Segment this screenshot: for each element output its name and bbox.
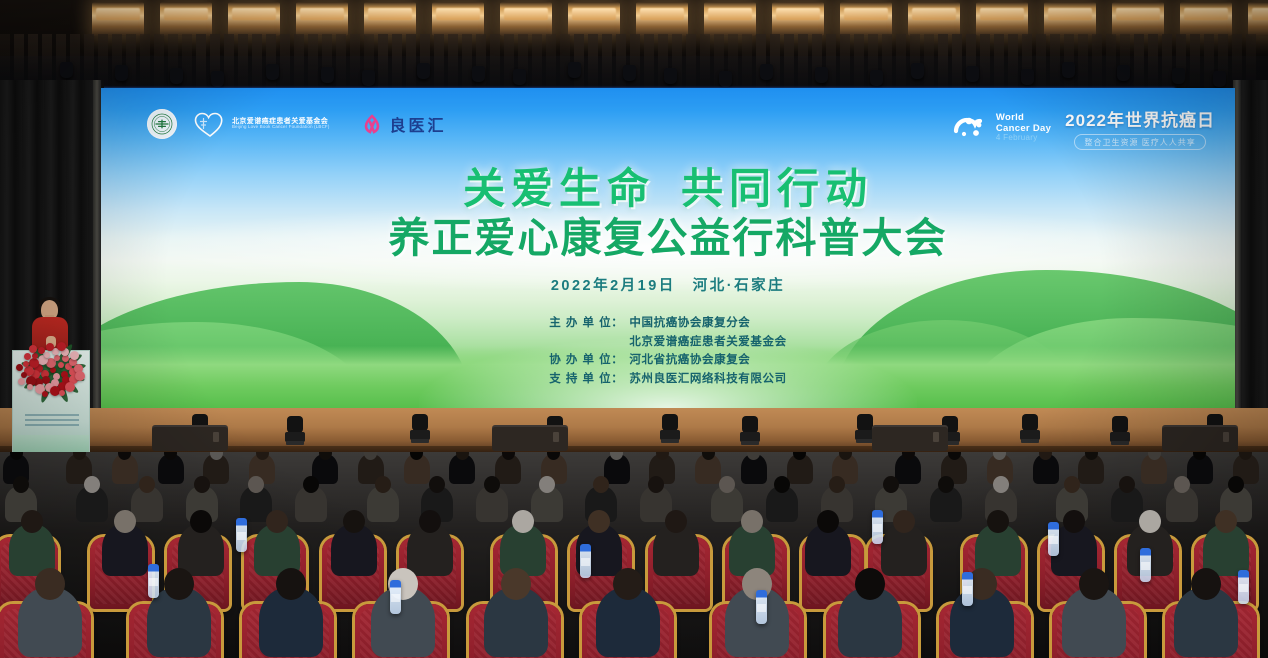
flower-bloom (58, 362, 64, 368)
audience-member-head (1119, 476, 1135, 493)
water-bottle (236, 518, 247, 552)
audience-member-head (501, 568, 531, 600)
lbcf-name-en: Beijing Love Book Cancer Foundation (LBC… (232, 125, 329, 130)
headline-line-2: 养正爱心康复公益行科普大会 (101, 214, 1235, 262)
organizer-value: 苏州良医汇网络科技有限公司 (629, 370, 786, 386)
pink-ribbon-icon (361, 112, 383, 136)
organizer-colon: ： (611, 370, 623, 386)
moving-head-stage-light (740, 416, 760, 446)
audience-member-head (938, 476, 954, 493)
ceiling-light-fixture (92, 2, 144, 36)
headline-part-b: 共同行动 (681, 165, 873, 212)
hanging-spotlight (815, 67, 828, 83)
hanging-spotlight (1172, 68, 1185, 84)
ceiling-light-fixture (840, 2, 892, 36)
hanging-spotlight (60, 62, 73, 78)
stage-monitor-speaker (1162, 425, 1238, 451)
organizer-value: 中国抗癌协会康复分会 (629, 314, 750, 330)
ceiling-light-fixture (432, 2, 484, 36)
audience-member-head (343, 510, 365, 533)
organizer-row: 支持单位：苏州良医汇网络科技有限公司 (549, 370, 786, 386)
audience-member-head (648, 476, 664, 493)
water-bottle (580, 544, 591, 578)
ceiling-light-fixture (364, 2, 416, 36)
audience-member-head (35, 568, 65, 600)
headline-part-a: 关爱生命 (463, 165, 655, 212)
ceiling-light-fixture (1248, 2, 1268, 36)
ceiling-light-fixture (160, 2, 212, 36)
hanging-spotlight (266, 64, 279, 80)
hanging-spotlight (321, 67, 334, 83)
lectern-banner-org-lines (25, 414, 79, 429)
flower-bloom (16, 364, 23, 371)
hanging-spotlight (719, 71, 732, 87)
hanging-spotlight (623, 65, 636, 81)
stage-monitor-speaker (872, 425, 948, 451)
audience-member-head (194, 476, 210, 493)
moving-head-stage-light (285, 416, 305, 446)
organizer-label: 支持单位 (549, 370, 611, 386)
organizer-label: 主办单位 (549, 314, 611, 330)
flower-bloom (27, 384, 33, 390)
flower-bloom (57, 342, 66, 351)
audience-member-head (1174, 476, 1190, 493)
liangyihui-logo: 良医汇 (361, 112, 446, 136)
heart-icon (193, 111, 227, 138)
hanging-spotlight (472, 66, 485, 82)
audience-member-head (13, 476, 29, 493)
moving-head-stage-light (660, 414, 680, 444)
hanging-spotlight (664, 68, 677, 84)
event-title-block: 关爱生命共同行动 养正爱心康复公益行科普大会 2022年2月19日 河北·石家庄 (101, 166, 1235, 295)
water-bottle (1238, 570, 1249, 604)
conference-hall-scene: 北京爱谱癌症患者关爱基金会 Beijing Love Book Cancer F… (0, 0, 1268, 658)
hanging-spotlight (513, 69, 526, 85)
organizer-row: 主办单位：中国抗癌协会康复分会 (549, 314, 786, 330)
hanging-spotlight (417, 63, 430, 79)
stage-monitor-speaker (152, 425, 228, 451)
ceiling-light-fixture (636, 2, 688, 36)
water-bottle (390, 580, 401, 614)
flower-bloom (46, 343, 54, 351)
organizer-row: 协办单位：河北省抗癌协会康复会 (549, 351, 786, 367)
audience-member-head (276, 568, 306, 600)
audience-member-head (855, 568, 885, 600)
flower-bloom (42, 391, 48, 397)
ceiling-light-fixture (908, 2, 960, 36)
ceiling-light-fixture (1044, 2, 1096, 36)
ceiling-light-fixture (1112, 2, 1164, 36)
audience-member-head (1063, 510, 1085, 533)
ceiling-light-fixture (704, 2, 756, 36)
audience-member-head (993, 476, 1009, 493)
beijing-lbcf-foundation-logo: 北京爱谱癌症患者关爱基金会 Beijing Love Book Cancer F… (193, 111, 329, 138)
audience-member-head (1079, 568, 1109, 600)
ceiling-light-fixture (568, 2, 620, 36)
sponsor-logos-left: 北京爱谱癌症患者关爱基金会 Beijing Love Book Cancer F… (147, 109, 447, 139)
audience-member-head (987, 510, 1009, 533)
wcd-line-3: 4 February (996, 134, 1051, 143)
flower-bloom (70, 351, 79, 360)
ceiling-lighting-rig (0, 0, 1268, 96)
stage-monitor-speaker (492, 425, 568, 451)
hanging-spotlight (760, 64, 773, 80)
organizer-row: 主办单位：北京爱谱癌症患者关爱基金会 (549, 333, 786, 349)
hanging-spotlight (211, 71, 224, 87)
audience-member-head (613, 568, 643, 600)
audience-member-head (539, 476, 555, 493)
water-bottle (1140, 548, 1151, 582)
wcd-chinese-block: 2022年世界抗癌日 整合卫生资源 医疗人人共享 (1065, 106, 1215, 150)
hanging-spotlight (870, 70, 883, 86)
ceiling-light-fixture (500, 2, 552, 36)
water-bottle (1048, 522, 1059, 556)
hanging-spotlight (115, 65, 128, 81)
flower-bloom (44, 352, 50, 358)
organizer-value: 河北省抗癌协会康复会 (629, 351, 750, 367)
ceiling-light-fixture (296, 2, 348, 36)
audience-member-head (303, 476, 319, 493)
hanging-spotlight (362, 70, 375, 86)
audience-member-head (665, 510, 687, 533)
event-date-location: 2022年2月19日 河北·石家庄 (101, 274, 1235, 295)
flower-bloom (18, 378, 25, 385)
flower-bloom (50, 386, 60, 396)
audience-member-head (741, 510, 763, 533)
hanging-spotlight (1062, 62, 1075, 78)
liangyihui-name: 良医汇 (389, 112, 446, 136)
audience-member-head (139, 476, 155, 493)
organizer-colon: ： (611, 314, 623, 330)
led-backdrop-screen: 北京爱谱癌症患者关爱基金会 Beijing Love Book Cancer F… (101, 88, 1235, 408)
hanging-spotlight (1021, 69, 1034, 85)
ceiling-light-fixture (1180, 2, 1232, 36)
moving-head-stage-light (410, 414, 430, 444)
wcd-subtitle-cn: 整合卫生资源 医疗人人共享 (1074, 134, 1205, 150)
china-anti-cancer-association-emblem (147, 109, 177, 139)
audience-member-head (419, 510, 441, 533)
water-bottle (148, 564, 159, 598)
world-cancer-day-mark: World Cancer Day 4 February (952, 113, 1051, 142)
organizer-value: 北京爱谱癌症患者关爱基金会 (629, 333, 786, 349)
headline-line-1: 关爱生命共同行动 (101, 166, 1235, 212)
audience-member-head (375, 476, 391, 493)
audience-member-head (829, 476, 845, 493)
wcd-dots-icon (952, 114, 990, 142)
audience-member-head (164, 568, 194, 600)
hanging-spotlight (170, 68, 183, 84)
hanging-spotlight (911, 63, 924, 79)
ceiling-light-fixture (772, 2, 824, 36)
organizer-colon: ： (611, 351, 623, 367)
moving-head-stage-light (1020, 414, 1040, 444)
ceiling-light-fixture (976, 2, 1028, 36)
hanging-spotlight (1117, 65, 1130, 81)
hanging-spotlight (966, 66, 979, 82)
moving-head-stage-light (1110, 416, 1130, 446)
wcd-title-cn: 2022年世界抗癌日 (1065, 106, 1215, 131)
water-bottle (962, 572, 973, 606)
flower-arrangement (6, 330, 98, 410)
flower-bloom (38, 347, 45, 354)
organizer-list: 主办单位：中国抗癌协会康复分会主办单位：北京爱谱癌症患者关爱基金会协办单位：河北… (101, 314, 1235, 386)
audience-seating-area (0, 452, 1268, 658)
hanging-spotlight (568, 62, 581, 78)
audience-member-head (484, 476, 500, 493)
water-bottle (872, 510, 883, 544)
audience-member-head (114, 510, 136, 533)
ceiling-light-fixture (228, 2, 280, 36)
organizer-label: 协办单位 (549, 351, 611, 367)
audience-member-head (774, 476, 790, 493)
audience-member-head (1191, 568, 1221, 600)
audience-member-head (21, 510, 43, 533)
world-cancer-day-logo-block: World Cancer Day 4 February 2022年世界抗癌日 整… (952, 106, 1215, 150)
water-bottle (756, 590, 767, 624)
hanging-spotlight (1213, 71, 1226, 87)
